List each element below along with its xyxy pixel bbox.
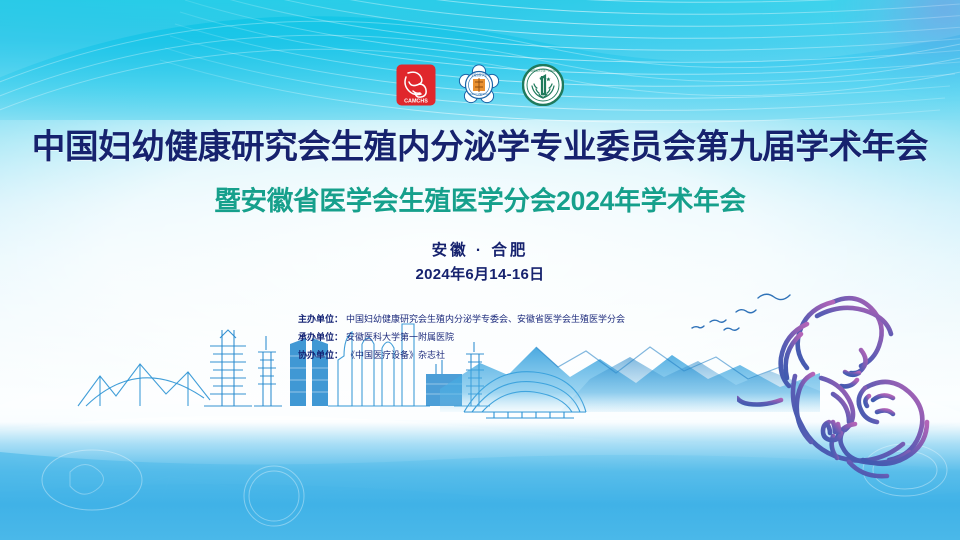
conference-poster: CAMCHS 安徽省医学会 ANHUI MEDICAL bbox=[0, 0, 960, 540]
organizer-row-undertaker: 承办单位： 安徽医科大学第一附属医院 bbox=[298, 328, 718, 346]
svg-text:安徽省医学会: 安徽省医学会 bbox=[471, 73, 487, 77]
svg-text:安徽医科大学第一附属医院: 安徽医科大学第一附属医院 bbox=[528, 69, 559, 73]
svg-text:CAMCHS: CAMCHS bbox=[404, 99, 428, 105]
svg-text:1898: 1898 bbox=[540, 95, 547, 99]
svg-text:ANHUI MEDICAL: ANHUI MEDICAL bbox=[469, 92, 490, 96]
organizer-label-coorganizer: 协办单位： bbox=[298, 346, 343, 364]
event-location: 安徽 · 合肥 bbox=[0, 238, 960, 260]
anhui-medical-association-logo: 安徽省医学会 ANHUI MEDICAL bbox=[458, 64, 500, 106]
anhui-medical-university-first-hospital-logo: 安徽医科大学第一附属医院 1898 bbox=[522, 64, 564, 106]
organizer-row-host: 主办单位： 中国妇幼健康研究会生殖内分泌学专委会、安徽省医学会生殖医学分会 bbox=[298, 310, 718, 328]
organizer-list: 主办单位： 中国妇幼健康研究会生殖内分泌学专委会、安徽省医学会生殖医学分会 承办… bbox=[298, 310, 718, 364]
organizer-value-coorganizer: 《中国医疗设备》杂志社 bbox=[346, 346, 445, 364]
page-title: 中国妇幼健康研究会生殖内分泌学专业委员会第九届学术年会 bbox=[0, 128, 960, 168]
logo-row: CAMCHS 安徽省医学会 ANHUI MEDICAL bbox=[0, 64, 960, 106]
page-subtitle: 暨安徽省医学会生殖医学分会2024年学术年会 bbox=[0, 184, 960, 218]
poster-content: CAMCHS 安徽省医学会 ANHUI MEDICAL bbox=[0, 0, 960, 540]
organizer-label-undertaker: 承办单位： bbox=[298, 328, 343, 346]
organizer-value-host: 中国妇幼健康研究会生殖内分泌学专委会、安徽省医学会生殖医学分会 bbox=[346, 310, 625, 328]
mother-and-baby-illustration bbox=[737, 272, 952, 500]
organizer-value-undertaker: 安徽医科大学第一附属医院 bbox=[346, 328, 454, 346]
camchs-logo: CAMCHS bbox=[396, 64, 436, 106]
organizer-row-coorganizer: 协办单位： 《中国医疗设备》杂志社 bbox=[298, 346, 718, 364]
organizer-label-host: 主办单位： bbox=[298, 310, 343, 328]
